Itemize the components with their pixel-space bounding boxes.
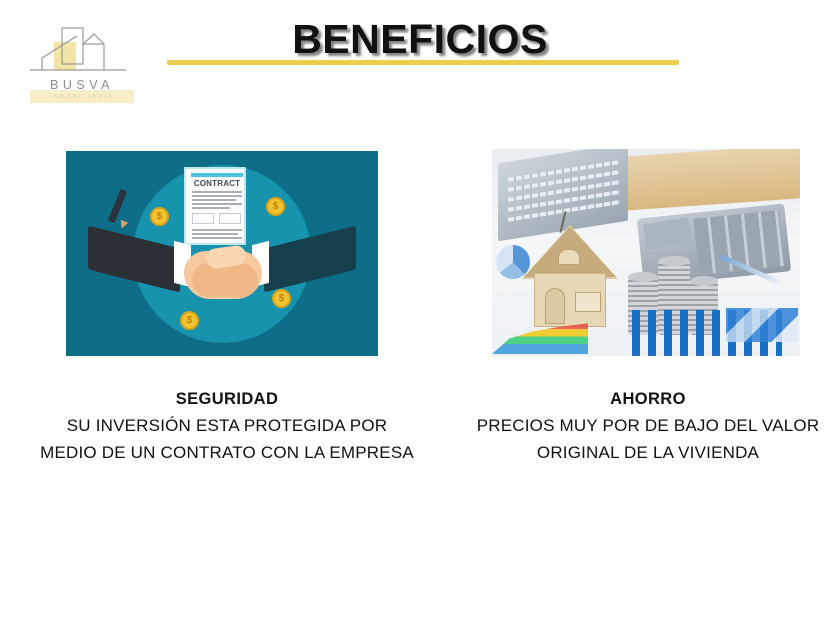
- coin-icon: $: [272, 289, 291, 308]
- document-field-box: [192, 213, 214, 224]
- bar-chart-graphic-right: [726, 308, 798, 342]
- benefit-body-text: SU INVERSIÓN ESTA PROTEGIDA POR MEDIO DE…: [36, 413, 418, 466]
- benefit-caption-ahorro: AHORRO PRECIOS MUY POR DE BAJO DEL VALOR…: [462, 388, 834, 466]
- house-body: [534, 273, 606, 327]
- title-underline-rule: [167, 60, 679, 65]
- document-text-line: [192, 203, 242, 205]
- benefit-image-ahorro: [492, 149, 800, 356]
- calculator-screen: [643, 217, 693, 250]
- document-text-line: [192, 195, 242, 197]
- coin-icon: $: [266, 197, 285, 216]
- document-text-line: [192, 207, 230, 209]
- document-text-line: [192, 233, 238, 235]
- handshake-fingers: [192, 263, 258, 297]
- benefit-heading: AHORRO: [462, 388, 834, 410]
- benefit-image-seguridad: $ $ $ $ CONTRACT: [66, 151, 378, 356]
- document-text-line: [192, 191, 242, 193]
- document-header-bar: [191, 173, 243, 177]
- document-text-line: [192, 229, 242, 231]
- benefit-caption-seguridad: SEGURIDAD SU INVERSIÓN ESTA PROTEGIDA PO…: [36, 388, 418, 466]
- slide-canvas: BUSVA INMOBILIARIA BENEFICIOS $ $ $ $ CO…: [0, 0, 840, 630]
- document-text-line: [192, 199, 236, 201]
- house-door: [545, 288, 565, 324]
- logo-tagline: INMOBILIARIA: [22, 94, 142, 100]
- attic-window: [558, 249, 580, 265]
- house-window: [575, 292, 601, 312]
- coin-icon: $: [180, 311, 199, 330]
- benefit-heading: SEGURIDAD: [36, 388, 418, 410]
- document-title: CONTRACT: [186, 179, 248, 188]
- coin-icon: $: [150, 207, 169, 226]
- page-title: BENEFICIOS: [0, 16, 840, 63]
- document-text-line: [192, 237, 242, 239]
- benefit-body-text: PRECIOS MUY POR DE BAJO DEL VALOR ORIGIN…: [462, 413, 834, 466]
- contract-document-icon: CONTRACT: [184, 167, 246, 245]
- house-model-icon: [522, 211, 618, 329]
- document-field-box: [219, 213, 241, 224]
